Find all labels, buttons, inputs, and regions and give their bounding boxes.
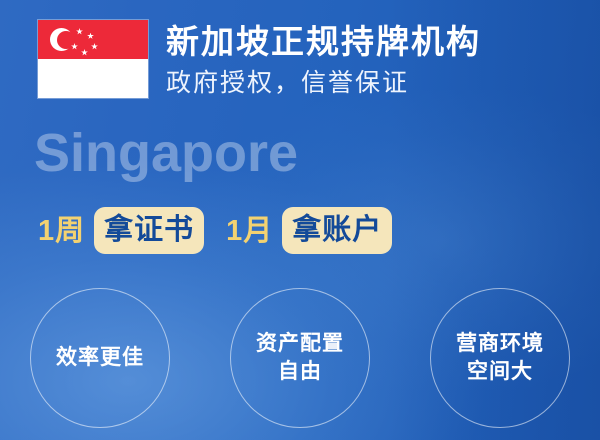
- feature-circle-label: 营商环境 空间大: [456, 330, 544, 386]
- promo-banner: 新加坡正规持牌机构 政府授权，信誉保证 Singapore 1周 拿证书 1月 …: [0, 0, 600, 440]
- banner-header: 新加坡正规持牌机构 政府授权，信誉保证: [38, 20, 481, 100]
- feature-circle-asset-allocation: 资产配置 自由: [230, 288, 370, 428]
- crescent-moon-icon: [50, 28, 73, 51]
- highlight-row: 1周 拿证书 1月 拿账户: [38, 207, 392, 254]
- feature-circle-label: 资产配置 自由: [256, 330, 344, 386]
- page-subtitle: 政府授权，信誉保证: [166, 66, 481, 100]
- page-title: 新加坡正规持牌机构: [166, 22, 481, 62]
- flag-white-band: [38, 59, 148, 98]
- highlight-lead-1: 1周: [38, 209, 85, 253]
- highlight-lead-2: 1月: [226, 209, 273, 253]
- header-text-block: 新加坡正规持牌机构 政府授权，信誉保证: [166, 20, 481, 100]
- singapore-flag-icon: [38, 20, 148, 98]
- feature-circle-label: 效率更佳: [56, 344, 144, 372]
- feature-circle-business-environment: 营商环境 空间大: [430, 288, 570, 428]
- watermark-text: Singapore: [34, 122, 298, 184]
- highlight-pill-2: 拿账户: [282, 207, 392, 254]
- highlight-pill-1: 拿证书: [94, 207, 204, 254]
- feature-circle-efficiency: 效率更佳: [30, 288, 170, 428]
